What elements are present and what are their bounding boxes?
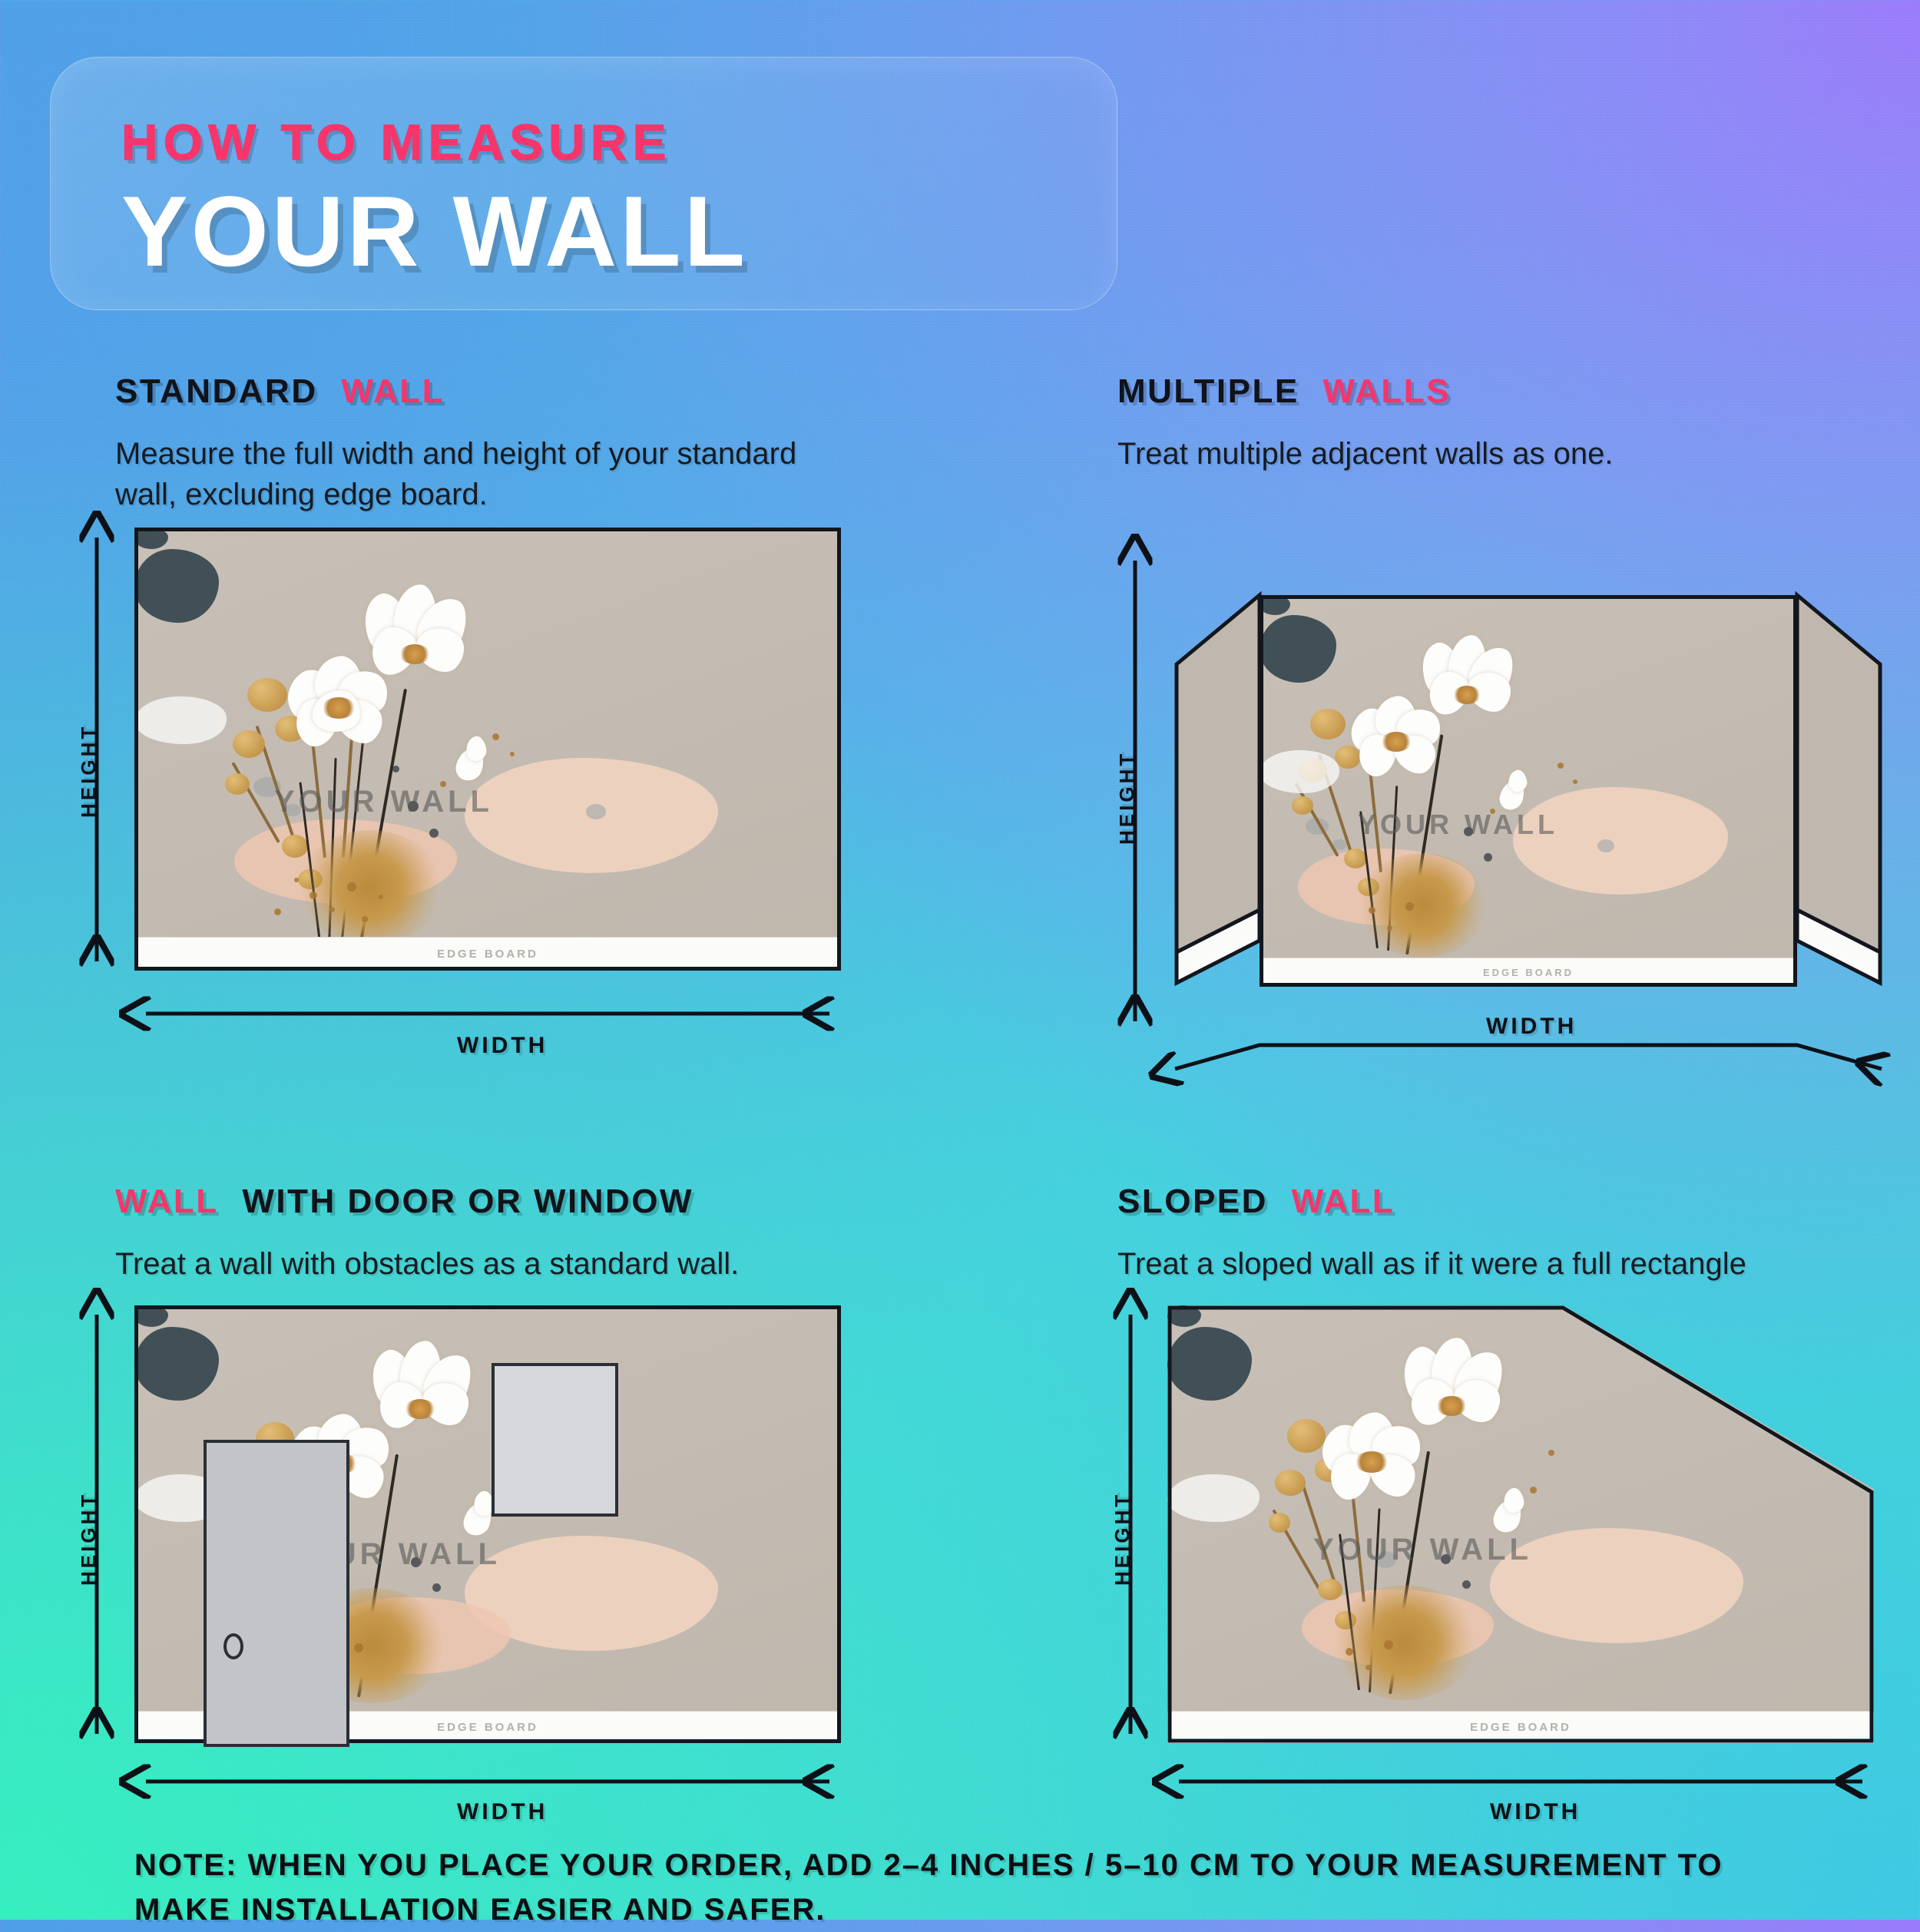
- wall-watermark-multiple: YOUR WALL: [1358, 809, 1558, 841]
- height-label-standard: HEIGHT: [77, 724, 101, 818]
- header-banner: HOW TO MEASURE YOUR WALL: [50, 57, 1117, 310]
- wall-watermark-sloped: YOUR WALL: [1313, 1533, 1532, 1567]
- section-title-pink-part: WALL: [115, 1183, 219, 1220]
- section-sloped-wall: SLOPED WALL Treat a sloped wall as if it…: [1117, 1183, 1920, 1285]
- door-obstacle: [204, 1440, 349, 1747]
- edge-board-sloped: EDGE BOARD: [1167, 1711, 1874, 1743]
- measurement-note: NOTE: WHEN YOU PLACE YOUR ORDER, ADD 2–4…: [134, 1843, 1809, 1932]
- diagram-sloped-wall: YOUR WALL EDGE BOARD: [1167, 1305, 1874, 1743]
- section-multiple-walls: MULTIPLE WALLS Treat multiple adjacent w…: [1117, 372, 1885, 475]
- edge-board-label: EDGE BOARD: [1470, 1721, 1571, 1734]
- height-label-sloped: HEIGHT: [1111, 1492, 1134, 1586]
- edge-board-label: EDGE BOARD: [437, 1721, 538, 1734]
- section-title-black-part: MULTIPLE: [1117, 372, 1299, 410]
- diagram-wall-with-door-or-window: YOUR WALL EDGE BOARD: [134, 1305, 841, 1743]
- header-kicker: HOW TO MEASURE: [121, 113, 1117, 171]
- section-description-multiple-walls: Treat multiple adjacent walls as one.: [1117, 434, 1809, 475]
- section-title-multiple-walls: MULTIPLE WALLS: [1117, 372, 1885, 411]
- edge-board-label: EDGE BOARD: [1483, 967, 1574, 978]
- wall-watermark-standard: YOUR WALL: [274, 785, 493, 819]
- section-description-standard-wall: Measure the full width and height of you…: [115, 434, 806, 515]
- height-label-multiple: HEIGHT: [1115, 751, 1139, 845]
- section-title-black-part: WITH DOOR OR WINDOW: [242, 1183, 694, 1220]
- window-obstacle: [492, 1363, 618, 1517]
- section-description-wall-with-door-or-window: Treat a wall with obstacles as a standar…: [115, 1244, 806, 1285]
- section-standard-wall: STANDARD WALL Measure the full width and…: [115, 372, 960, 515]
- width-label-multiple: WIDTH: [1486, 1014, 1577, 1040]
- door-knob-icon: [223, 1633, 243, 1659]
- wall-artwork-sloped: YOUR WALL EDGE BOARD: [1167, 1305, 1874, 1743]
- section-title-black-part: SLOPED: [1117, 1183, 1268, 1220]
- width-label-standard: WIDTH: [457, 1033, 548, 1059]
- edge-board-standard: EDGE BOARD: [134, 937, 841, 971]
- section-title-pink-part: WALLS: [1322, 372, 1450, 410]
- section-title-black-part: STANDARD: [115, 372, 318, 410]
- width-label-sloped: WIDTH: [1490, 1799, 1581, 1825]
- diagram-standard-wall: YOUR WALL EDGE BOARD: [134, 528, 841, 971]
- section-title-sloped-wall: SLOPED WALL: [1117, 1183, 1920, 1221]
- diagram-multiple-walls-front: YOUR WALL EDGE BOARD: [1260, 595, 1797, 987]
- section-title-wall-with-door-or-window: WALL WITH DOOR OR WINDOW: [115, 1183, 1037, 1221]
- section-title-pink-part: WALL: [341, 372, 445, 410]
- edge-board-label: EDGE BOARD: [437, 948, 538, 961]
- section-wall-with-door-or-window: WALL WITH DOOR OR WINDOW Treat a wall wi…: [115, 1183, 1037, 1285]
- section-title-pink-part: WALL: [1292, 1183, 1395, 1220]
- edge-board-multiple: EDGE BOARD: [1260, 958, 1797, 987]
- height-label-door-window: HEIGHT: [77, 1492, 101, 1586]
- width-label-door-window: WIDTH: [457, 1799, 548, 1825]
- wall-artwork-multiple: YOUR WALL EDGE BOARD: [1260, 595, 1797, 987]
- section-title-standard-wall: STANDARD WALL: [115, 372, 960, 411]
- page-title: YOUR WALL: [121, 180, 1117, 283]
- wall-artwork-standard: YOUR WALL EDGE BOARD: [134, 528, 841, 971]
- section-description-sloped-wall: Treat a sloped wall as if it were a full…: [1117, 1244, 1809, 1285]
